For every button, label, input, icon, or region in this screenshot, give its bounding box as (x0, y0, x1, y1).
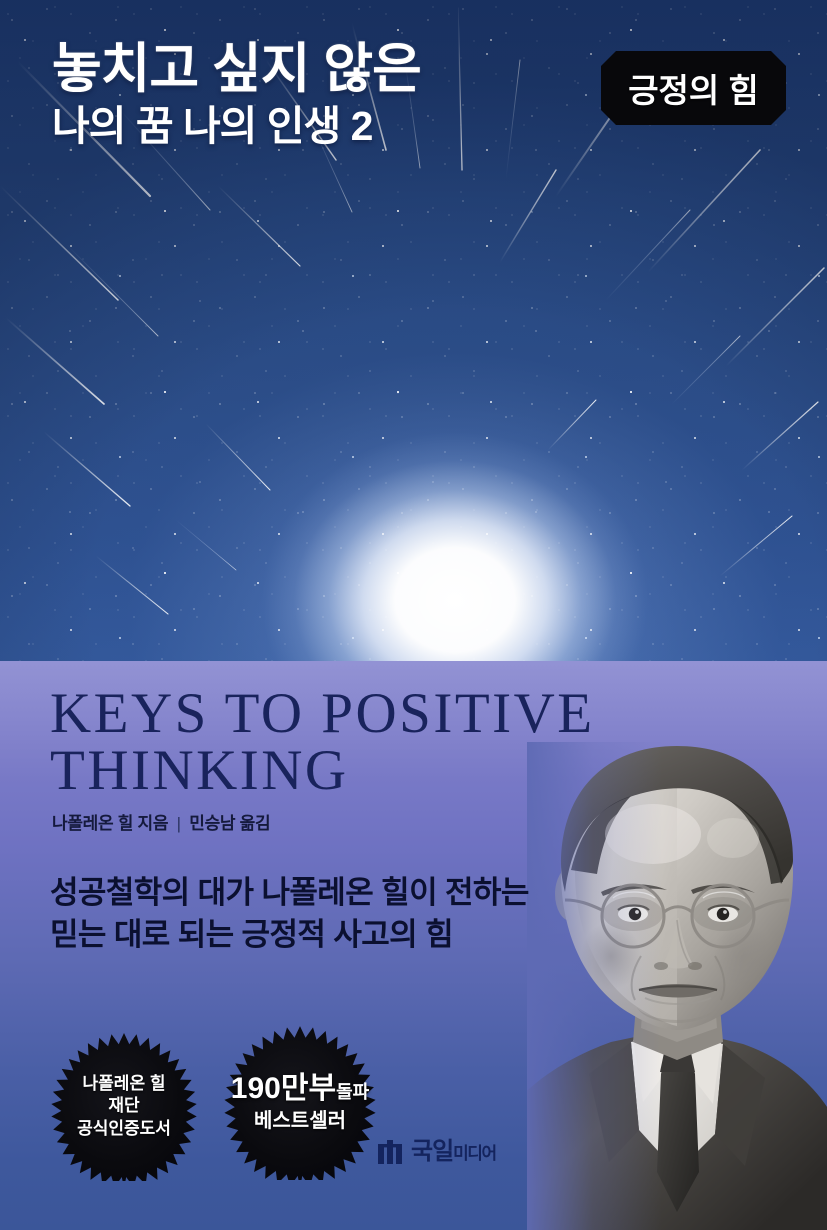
corner-badge-label: 긍정의 힘 (628, 64, 759, 112)
english-title-line-1: KEYS TO POSITIVE (50, 684, 690, 743)
book-title-subtitle: 나의 꿈 나의 인생 2 (52, 104, 522, 149)
translator-name: 민승남 옮김 (189, 814, 270, 833)
foundation-certification-badge: 나폴레온 힐 재단 공식인증도서 (49, 1031, 199, 1181)
napoleon-hill-portrait (527, 742, 827, 1230)
tagline: 성공철학의 대가 나폴레온 힐이 전하는 믿는 대로 되는 긍정적 사고의 힘 (50, 872, 610, 955)
bestseller-badge: 190만부돌파 베스트셀러 (222, 1024, 378, 1180)
english-title: KEYS TO POSITIVE THINKING (50, 684, 690, 801)
publisher-name-tail: 미디어 (453, 1144, 495, 1163)
title-block: 놓치고 싶지 않은 나의 꿈 나의 인생 2 (52, 41, 522, 149)
tagline-line-2: 믿는 대로 되는 긍정적 사고의 힘 (50, 914, 610, 956)
credit-separator: | (173, 814, 185, 833)
book-cover: 놓치고 싶지 않은 나의 꿈 나의 인생 2 긍정의 힘 KEYS TO POS… (0, 0, 827, 1230)
tagline-line-1: 성공철학의 대가 나폴레온 힐이 전하는 (50, 872, 610, 914)
publisher-logo: 국일미디어 (378, 1140, 496, 1164)
book-title-main: 놓치고 싶지 않은 (52, 41, 522, 98)
author-credit-line: 나폴레온 힐 지음 | 민승남 옮김 (52, 809, 270, 834)
english-title-line-2: THINKING (50, 741, 690, 800)
publisher-name: 국일미디어 (411, 1140, 496, 1164)
author-name: 나폴레온 힐 지음 (52, 814, 168, 833)
publisher-name-main: 국일 (411, 1138, 453, 1165)
corner-badge: 긍정의 힘 (601, 51, 786, 125)
publisher-mark-icon (378, 1140, 404, 1164)
